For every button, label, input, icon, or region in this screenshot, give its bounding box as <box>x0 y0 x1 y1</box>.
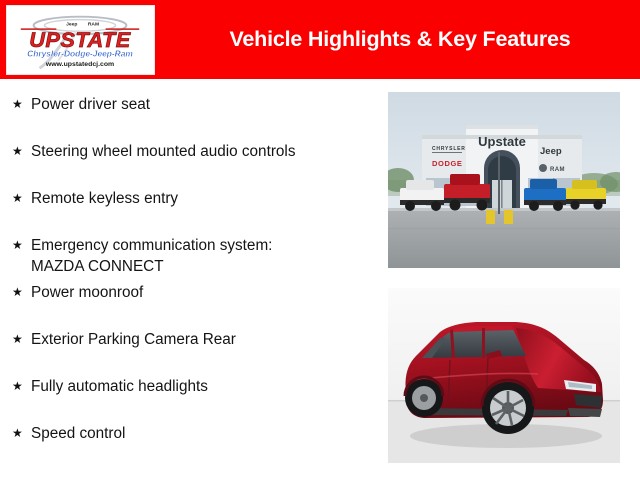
page-title: Vehicle Highlights & Key Features <box>160 0 640 79</box>
list-item: ★ Power driver seat <box>0 84 378 131</box>
vehicle-photo <box>388 288 620 463</box>
vehicle-features-list: ★ Power driver seat ★ Steering wheel mou… <box>0 84 378 480</box>
svg-text:CHRYSLER: CHRYSLER <box>432 146 466 152</box>
star-bullet-icon: ★ <box>12 427 23 439</box>
star-bullet-icon: ★ <box>12 380 23 392</box>
feature-label: Power driver seat <box>31 84 150 115</box>
star-bullet-icon: ★ <box>12 333 23 345</box>
star-bullet-icon: ★ <box>12 145 23 157</box>
list-item: ★ Power moonroof <box>0 272 378 319</box>
feature-label: Speed control <box>31 413 125 444</box>
list-item: ★ Speed control <box>0 413 378 460</box>
star-bullet-icon: ★ <box>12 98 23 110</box>
feature-label: Power moonroof <box>31 272 143 303</box>
star-bullet-icon: ★ <box>12 239 23 251</box>
vehicle-photo-graphic <box>388 288 620 463</box>
svg-text:www.upstatedcj.com: www.upstatedcj.com <box>45 61 114 68</box>
list-item: ★ Fully automatic headlights <box>0 366 378 413</box>
feature-label: Steering wheel mounted audio controls <box>31 131 295 162</box>
svg-text:Jeep: Jeep <box>66 21 77 27</box>
dealer-logo-graphic: Jeep RAM UPSTATE Chrysler-Dodge-Jeep-Ram… <box>7 6 154 74</box>
list-item: ★ Remote keyless entry <box>0 178 378 225</box>
list-item: ★ Steering wheel mounted audio controls <box>0 131 378 178</box>
feature-label: Exterior Parking Camera Rear <box>31 319 236 350</box>
star-bullet-icon: ★ <box>12 192 23 204</box>
feature-label: Remote keyless entry <box>31 178 178 209</box>
svg-text:Upstate: Upstate <box>478 134 526 149</box>
svg-text:DODGE: DODGE <box>432 159 463 168</box>
dealer-logo: Jeep RAM UPSTATE Chrysler-Dodge-Jeep-Ram… <box>6 5 155 75</box>
svg-text:RAM: RAM <box>88 21 99 27</box>
svg-text:RAM: RAM <box>550 167 565 173</box>
header-bar: Jeep RAM UPSTATE Chrysler-Dodge-Jeep-Ram… <box>0 0 640 79</box>
feature-label: Fully automatic headlights <box>31 366 208 397</box>
star-bullet-icon: ★ <box>12 286 23 298</box>
svg-text:Chrysler-Dodge-Jeep-Ram: Chrysler-Dodge-Jeep-Ram <box>27 49 133 59</box>
svg-text:Jeep: Jeep <box>540 146 562 157</box>
list-item: ★ Emergency communication system: MAZDA … <box>0 225 378 272</box>
dealership-photo-graphic: Upstate CHRYSLER DODGE Jeep RAM <box>388 92 620 268</box>
list-item: ★ Exterior Parking Camera Rear <box>0 319 378 366</box>
dealership-exterior-photo: Upstate CHRYSLER DODGE Jeep RAM <box>388 92 620 268</box>
feature-label: Emergency communication system: MAZDA CO… <box>31 225 272 277</box>
